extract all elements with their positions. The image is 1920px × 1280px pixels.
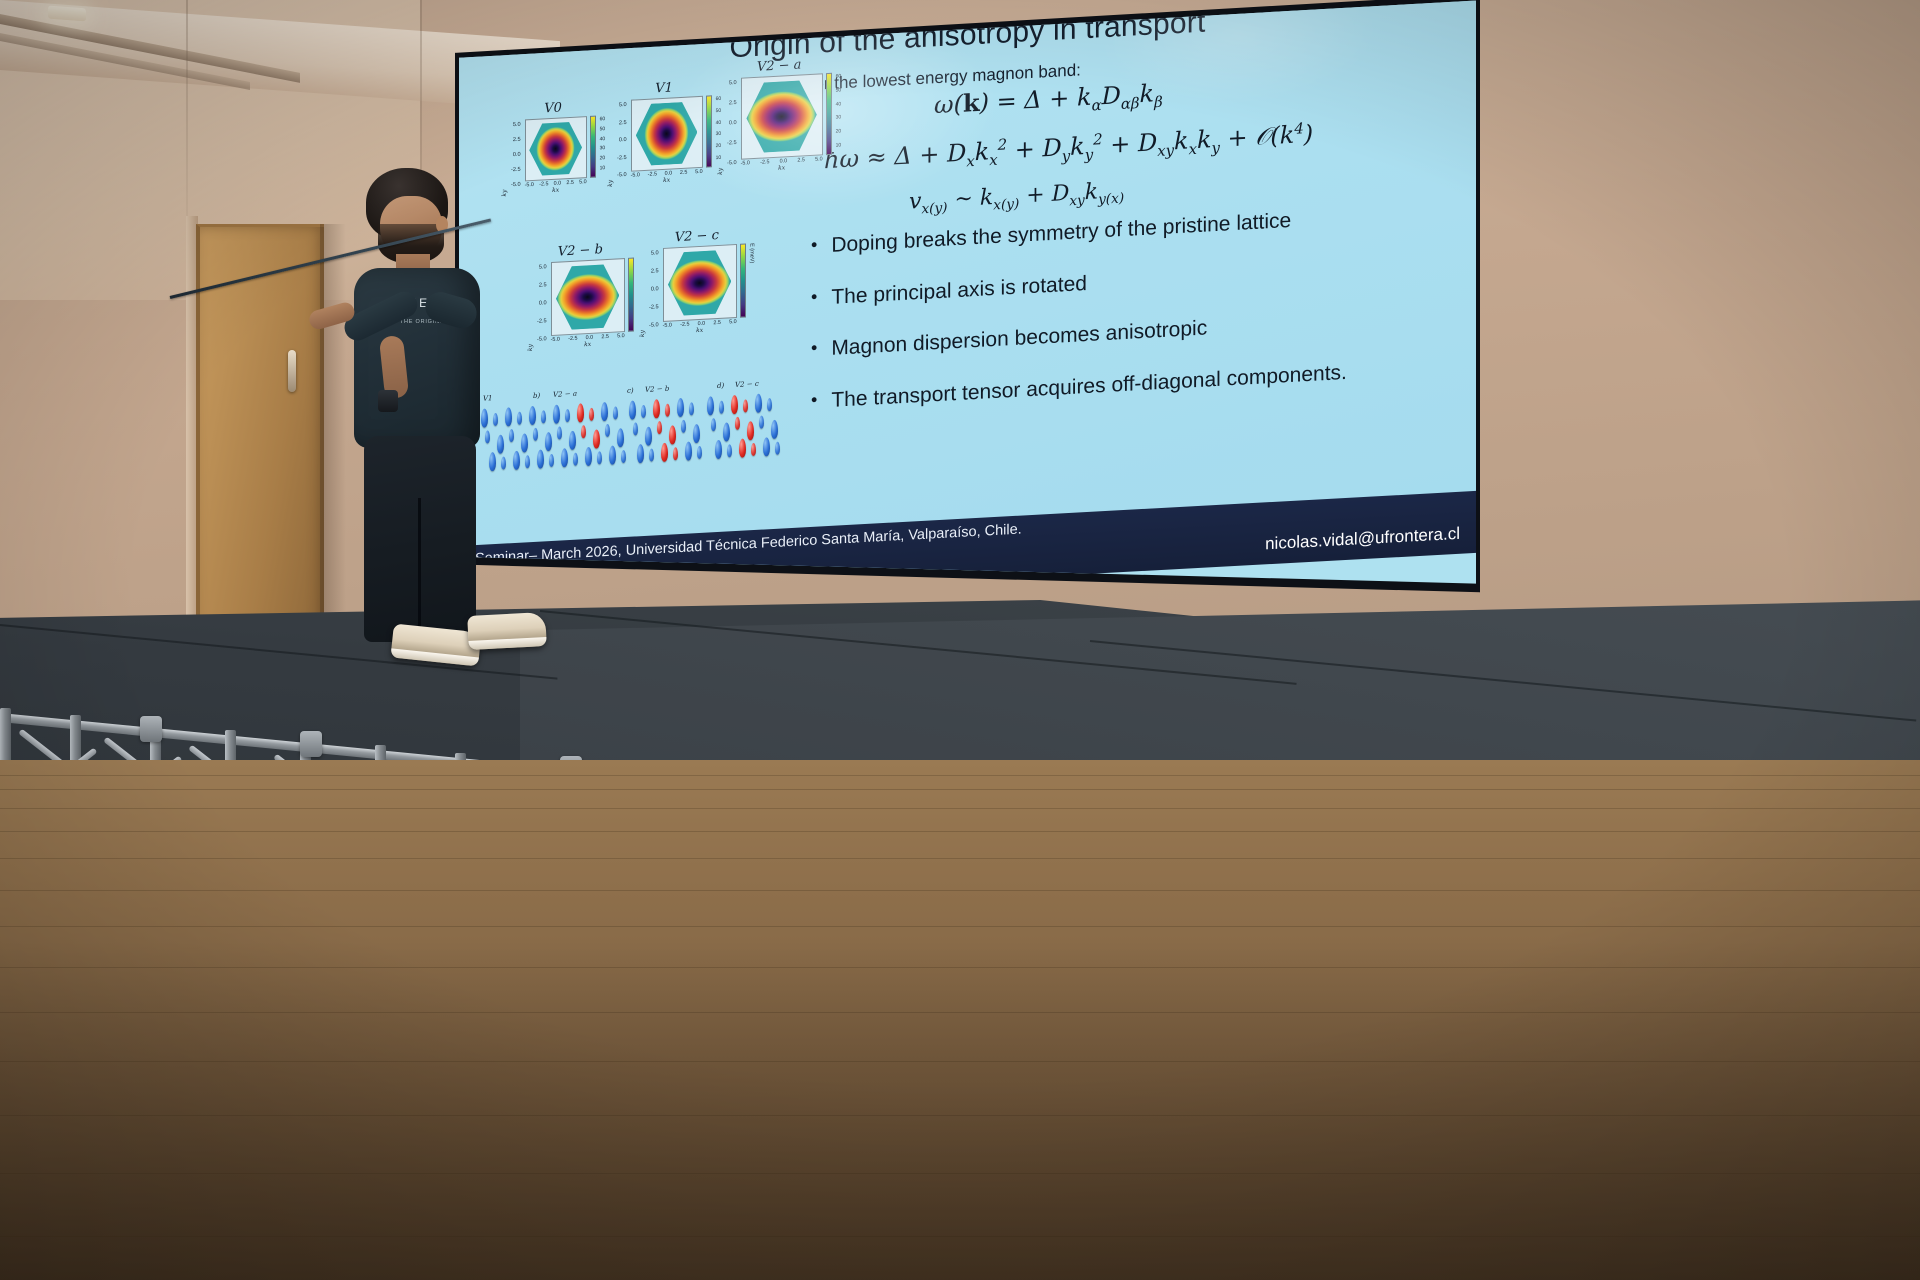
spin-arrow (759, 415, 764, 428)
presenter-leg-split (418, 498, 421, 628)
xtick: 5.0 (579, 179, 587, 185)
ytick: 5.0 (649, 250, 659, 257)
spin-arrow (747, 421, 754, 440)
spin-arrow (735, 417, 740, 430)
ytick: 5.0 (511, 122, 521, 129)
spin-arrow (711, 418, 716, 431)
bullet-dot-icon: • (811, 231, 817, 263)
spin-arrow (661, 443, 668, 462)
colorbar (826, 73, 832, 155)
spin-arrow (585, 447, 592, 466)
bullet-dot-icon: • (811, 334, 817, 366)
bullet-text: The transport tensor acquires off-diagon… (831, 352, 1426, 416)
heatmap-panel-v2a: V2 − a ky 5.0 2.5 0.0 -2.5 -5.0 (717, 55, 841, 175)
spin-arrow (629, 400, 636, 419)
floor-plank (0, 1061, 1920, 1062)
slide-footer-email: nicolas.vidal@ufrontera.cl (1265, 524, 1460, 555)
xtick: -2.5 (680, 322, 689, 329)
cbar-tick: 40 (600, 136, 606, 142)
projection-screen: Anisotropic magnon transport in vanadium… (455, 0, 1480, 614)
floor-shadow (0, 940, 1920, 1280)
spin-arrow (707, 396, 714, 415)
spin-caption: V2 − b (645, 385, 669, 394)
spin-arrow (581, 425, 586, 438)
presenter-torso (354, 268, 480, 448)
spin-caption: d) (717, 382, 724, 390)
ceiling-light (48, 6, 86, 22)
xtick: -2.5 (648, 171, 657, 178)
presenter-shoe-right (467, 612, 547, 650)
brillouin-zone-heatmap (663, 244, 737, 322)
floor-plank (0, 831, 1920, 832)
xtick: -2.5 (760, 159, 769, 166)
lecture-hall-photo: Anisotropic magnon transport in vanadium… (0, 0, 1920, 1280)
colorbar-ticks: 60 50 40 30 20 10 (835, 72, 842, 154)
colorbar (706, 95, 712, 167)
ytick: -5.0 (617, 172, 627, 179)
spin-arrow (669, 425, 676, 444)
colorbar-label: E (meV) (749, 243, 755, 331)
spin-arrow (685, 441, 692, 460)
spin-arrow (593, 429, 600, 448)
brillouin-zone-heatmap (741, 73, 823, 159)
xtick: 2.5 (797, 157, 805, 163)
ytick: 2.5 (617, 119, 627, 126)
cbar-tick: 50 (600, 126, 606, 132)
ytick: 2.5 (511, 137, 521, 144)
cbar-tick: 60 (600, 116, 606, 122)
ytick: 5.0 (617, 102, 627, 109)
cbar-tick: 50 (836, 87, 842, 93)
floor-plank (0, 926, 1920, 927)
spin-arrow (653, 399, 660, 418)
ytick: -5.0 (727, 160, 737, 167)
heatmap-gradient (668, 250, 731, 317)
floor-plank (0, 1115, 1920, 1116)
spin-arrow (771, 420, 778, 439)
floor-plank (0, 1173, 1920, 1174)
spin-arrow (697, 446, 702, 459)
spin-arrow (689, 402, 694, 415)
xtick: 2.5 (601, 334, 609, 340)
xtick: 5.0 (617, 333, 625, 339)
cbar-tick: 20 (600, 155, 606, 161)
truss-clamp (140, 716, 162, 742)
bullet-list: • Doping breaks the symmetry of the pris… (811, 196, 1451, 437)
cbar-tick: 60 (836, 73, 842, 79)
spin-arrow (681, 420, 686, 433)
spin-arrow (621, 450, 626, 463)
spin-arrow (775, 442, 780, 455)
cbar-tick: 10 (836, 142, 842, 148)
cbar-tick: 30 (600, 145, 606, 151)
spin-arrow (609, 445, 616, 464)
spin-arrow (597, 451, 602, 464)
floor-plank (0, 1012, 1920, 1013)
spin-arrow (641, 405, 646, 418)
wall-seam (186, 0, 188, 230)
spin-arrow (727, 444, 732, 457)
xtick: 2.5 (680, 170, 688, 176)
presentation-slide: Anisotropic magnon transport in vanadium… (459, 0, 1476, 608)
xtick: -2.5 (568, 336, 577, 343)
spin-arrow (573, 453, 578, 466)
truss-clamp (300, 731, 322, 757)
ytick: -5.0 (649, 322, 659, 329)
spin-arrow (677, 398, 684, 417)
floor-plank (0, 967, 1920, 968)
panel-ylabel: ky (607, 101, 614, 187)
colorbar (740, 243, 746, 317)
spin-arrow (605, 424, 610, 437)
spin-cluster (707, 392, 785, 478)
floor-plank (0, 808, 1920, 809)
spin-arrow (763, 437, 770, 456)
spin-arrow (715, 440, 722, 459)
ytick: 2.5 (727, 100, 737, 107)
spin-arrow (723, 422, 730, 441)
spin-arrow (637, 444, 644, 463)
xtick: 5.0 (729, 319, 737, 325)
cbar-tick: 10 (600, 165, 606, 171)
slide-header-text: Anisotropic magnon transport in vanadium… (783, 0, 1152, 13)
spin-cluster (629, 397, 707, 483)
door-handle[interactable] (288, 350, 296, 392)
cbar-tick: 30 (836, 115, 842, 121)
spin-arrow (731, 395, 738, 414)
floor-plank (0, 789, 1920, 790)
xtick: -5.0 (741, 160, 750, 167)
presenter: O.NEILL THE ORIGINAL (318, 168, 568, 698)
spin-arrow (673, 447, 678, 460)
spin-caption: V2 − c (735, 380, 759, 389)
xtick: 2.5 (713, 320, 721, 326)
presentation-clicker[interactable] (378, 390, 398, 412)
spin-arrow (693, 424, 700, 443)
spin-arrow (743, 399, 748, 412)
heatmap-panel-v2c: V2 − c ky 5.0 2.5 0.0 -2.5 -5.0 (639, 226, 755, 337)
spin-arrow (649, 448, 654, 461)
ytick: 0.0 (727, 120, 737, 127)
spin-arrow (617, 428, 624, 447)
spin-arrow (657, 421, 662, 434)
bullet-text: The principal axis is rotated (831, 249, 1426, 313)
spin-arrow (719, 401, 724, 414)
spin-arrow (589, 408, 594, 421)
spin-arrow (751, 443, 756, 456)
panel-yticks: 5.0 2.5 0.0 -2.5 -5.0 (617, 100, 628, 187)
spin-arrow (601, 402, 608, 421)
panel-ylabel: ky (639, 249, 646, 337)
xtick: 5.0 (695, 169, 703, 175)
screen-surface: Anisotropic magnon transport in vanadium… (459, 0, 1476, 608)
bullet-text: Magnon dispersion becomes anisotropic (831, 301, 1426, 365)
cbar-tick: 20 (836, 128, 842, 134)
shoe-sole (390, 648, 478, 666)
floor-plank (0, 858, 1920, 859)
panel-ylabel: ky (717, 79, 724, 175)
spin-arrow (665, 404, 670, 417)
spin-arrow (613, 406, 618, 419)
ytick: 0.0 (511, 152, 521, 159)
ytick: 2.5 (649, 268, 659, 275)
panel-yticks: 5.0 2.5 0.0 -2.5 -5.0 (649, 248, 660, 337)
ytick: -2.5 (617, 154, 627, 161)
spin-arrow (645, 427, 652, 446)
floor-plank (0, 1236, 1920, 1237)
spin-caption: c) (627, 387, 634, 395)
brillouin-zone-heatmap (631, 96, 703, 172)
bullet-dot-icon: • (811, 385, 817, 417)
bullet-dot-icon: • (811, 282, 817, 314)
shoe-sole (468, 637, 546, 650)
colorbar-ticks: 60 50 40 30 20 10 (599, 115, 606, 177)
heatmap-panel-v1: V1 ky 5.0 2.5 0.0 -2.5 -5.0 (607, 78, 721, 187)
spin-arrow (739, 438, 746, 457)
floor-plank (0, 775, 1920, 776)
spin-arrow (755, 394, 762, 413)
colorbar (590, 116, 596, 178)
spin-arrow (767, 398, 772, 411)
xtick: 5.0 (815, 156, 823, 162)
spin-arrow (577, 403, 584, 422)
spin-arrow (633, 422, 638, 435)
spin-arrow (569, 431, 576, 450)
panel-yticks: 5.0 2.5 0.0 -2.5 -5.0 (727, 78, 738, 175)
ytick: 0.0 (649, 286, 659, 293)
bullet-item: • The transport tensor acquires off-diag… (811, 351, 1451, 417)
heatmap-gradient (636, 101, 698, 166)
colorbar (628, 258, 634, 332)
ytick: -2.5 (727, 140, 737, 147)
heatmap-gradient (746, 79, 816, 153)
cbar-tick: 40 (836, 101, 842, 107)
ytick: -2.5 (649, 304, 659, 311)
xtick: -5.0 (631, 172, 640, 179)
floor-plank (0, 890, 1920, 891)
ytick: 0.0 (617, 137, 627, 144)
ytick: 5.0 (727, 80, 737, 87)
slide-footer: Seminar– March 2026, Universidad Técnica… (459, 491, 1476, 608)
xtick: -5.0 (663, 322, 672, 329)
